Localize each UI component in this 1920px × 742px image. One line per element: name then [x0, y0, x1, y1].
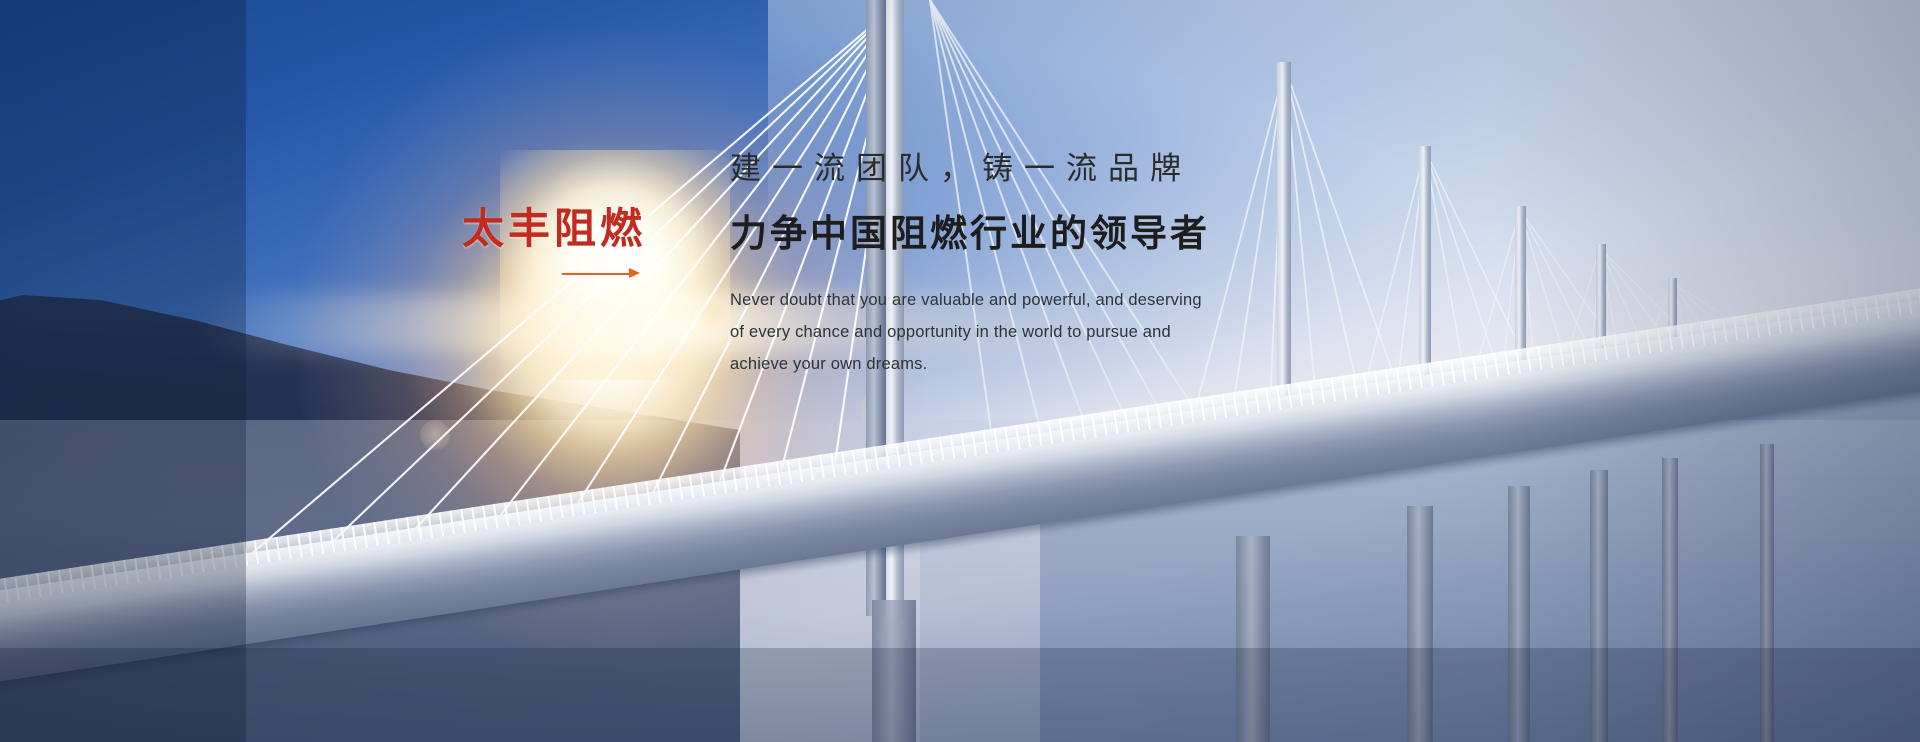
description-line-2: of every chance and opportunity in the w…	[730, 316, 1370, 348]
description-line-1: Never doubt that you are valuable and po…	[730, 284, 1370, 316]
description-line-3: achieve your own dreams.	[730, 348, 1370, 380]
banner-description: Never doubt that you are valuable and po…	[730, 284, 1370, 381]
banner-content: 太丰阻燃 建一流团队，铸一流品牌 力争中国阻燃行业的领导者 Never doub…	[0, 0, 1920, 742]
brand-logo[interactable]: 太丰阻燃	[462, 206, 682, 280]
hero-banner: 太丰阻燃 建一流团队，铸一流品牌 力争中国阻燃行业的领导者 Never doub…	[0, 0, 1920, 742]
arrow-shaft	[562, 273, 632, 275]
headline-primary: 建一流团队，铸一流品牌	[730, 148, 1370, 190]
banner-text-block: 建一流团队，铸一流品牌 力争中国阻燃行业的领导者 Never doubt tha…	[730, 148, 1370, 380]
arrow-right-icon	[562, 268, 640, 280]
brand-logo-text: 太丰阻燃	[462, 206, 682, 252]
headline-secondary: 力争中国阻燃行业的领导者	[730, 210, 1370, 258]
arrow-head	[629, 268, 640, 278]
